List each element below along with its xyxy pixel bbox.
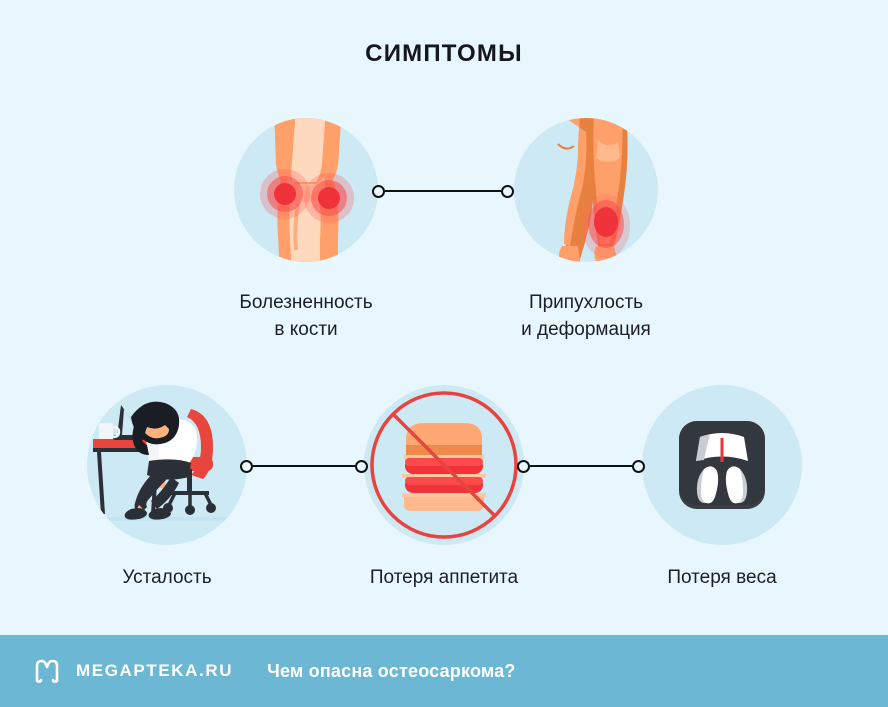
bathroom-scale-icon (642, 385, 802, 545)
connector-line (385, 190, 501, 193)
infographic-canvas: СИМПТОМЫ (0, 0, 888, 707)
caption-fatigue: Усталость (37, 565, 297, 592)
caption-bone-pain: Болезненность в кости (156, 290, 456, 344)
knee-joint-pain-icon (234, 118, 378, 262)
connector-top (372, 182, 514, 200)
footer-brand[interactable]: MEGAPTEKA.RU (76, 661, 233, 681)
icon-disc-bone-pain (234, 118, 378, 262)
connector-line (253, 465, 355, 468)
connector-dot-right (501, 185, 514, 198)
caption-swelling: Припухлость и деформация (436, 290, 736, 344)
icon-disc-weight-loss (642, 385, 802, 545)
swollen-legs-icon (514, 118, 658, 262)
footer-tagline[interactable]: Чем опасна остеосаркома? (267, 661, 516, 682)
no-burger-icon (364, 385, 524, 545)
caption-weight-loss: Потеря веса (592, 565, 852, 592)
footer-bar: MEGAPTEKA.RU Чем опасна остеосаркома? (0, 635, 888, 707)
page-title: СИМПТОМЫ (0, 40, 888, 68)
connector-dot-right (355, 460, 368, 473)
connector-dot-left (517, 460, 530, 473)
connector-dot-left (240, 460, 253, 473)
icon-disc-swelling (514, 118, 658, 262)
icon-disc-appetite-loss (364, 385, 524, 545)
megapteka-m-logo-icon (32, 656, 62, 686)
tired-person-at-desk-icon (87, 385, 247, 545)
caption-appetite-loss: Потеря аппетита (314, 565, 574, 592)
connector-dot-left (372, 185, 385, 198)
connector-bottom-right (517, 457, 645, 475)
connector-dot-right (632, 460, 645, 473)
connector-bottom-left (240, 457, 368, 475)
icon-disc-fatigue (87, 385, 247, 545)
connector-line (530, 465, 632, 468)
